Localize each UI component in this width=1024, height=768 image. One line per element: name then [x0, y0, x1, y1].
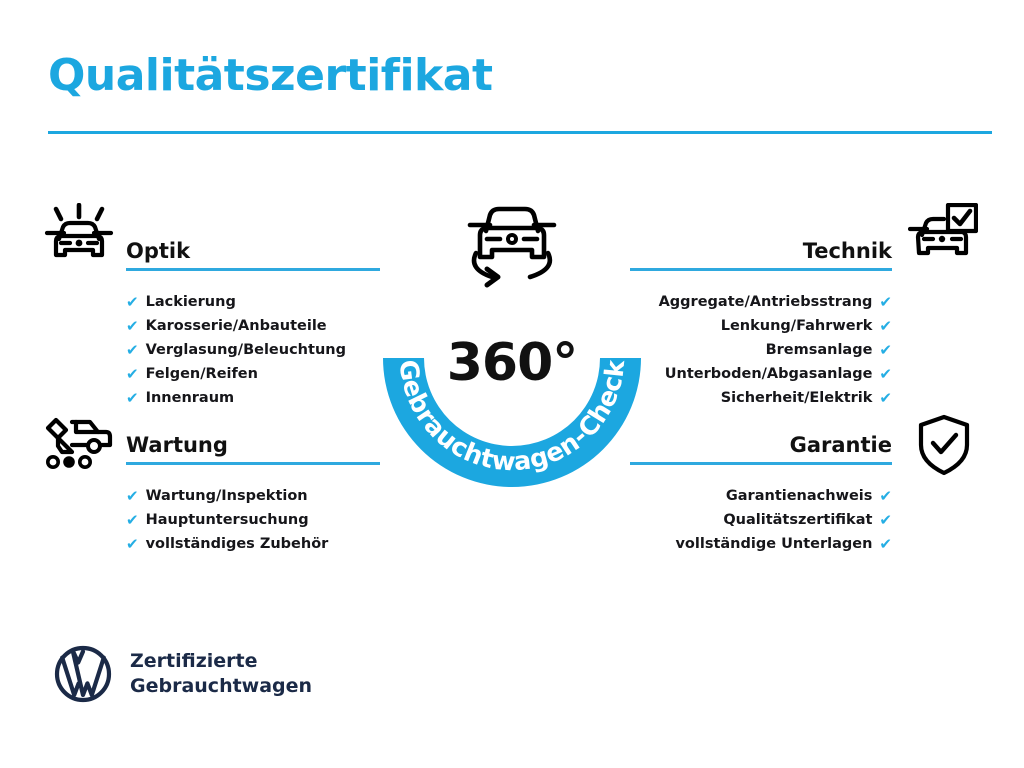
list-item-label: Qualitätszertifikat [723, 508, 872, 532]
section-divider-wartung [126, 462, 380, 465]
car-shine-icon [44, 203, 116, 269]
list-item: ✔ Karosserie/Anbauteile [126, 314, 380, 338]
list-item-label: Karosserie/Anbauteile [146, 314, 327, 338]
list-item: ✔ Wartung/Inspektion [126, 484, 380, 508]
brand-line-1: Zertifizierte [130, 649, 312, 674]
check-icon: ✔ [126, 532, 139, 556]
page-title: Qualitätszertifikat [48, 52, 493, 100]
list-item-label: Verglasung/Beleuchtung [146, 338, 346, 362]
brand-line-2: Gebrauchtwagen [130, 674, 312, 699]
section-header-wartung: Wartung [126, 432, 380, 472]
check-icon: ✔ [126, 386, 139, 410]
car-rotate-icon [456, 193, 568, 299]
list-item: Sicherheit/Elektrik ✔ [630, 386, 892, 410]
brand-lockup: Zertifizierte Gebrauchtwagen [54, 645, 312, 703]
badge-number: 360° [372, 333, 652, 393]
list-item-label: Lackierung [146, 290, 236, 314]
check-icon: ✔ [126, 314, 139, 338]
list-item: ✔ Felgen/Reifen [126, 362, 380, 386]
list-item: Bremsanlage ✔ [630, 338, 892, 362]
list-item-label: Felgen/Reifen [146, 362, 258, 386]
check-icon: ✔ [879, 508, 892, 532]
list-item-label: Hauptuntersuchung [146, 508, 309, 532]
car-checkbox-icon [908, 203, 978, 269]
section-divider-garantie [630, 462, 892, 465]
brand-text: Zertifizierte Gebrauchtwagen [130, 649, 312, 699]
list-item-label: Wartung/Inspektion [146, 484, 308, 508]
section-title-wartung: Wartung [126, 432, 380, 458]
check-icon: ✔ [879, 532, 892, 556]
list-item-label: Bremsanlage [766, 338, 873, 362]
list-item: ✔ Innenraum [126, 386, 380, 410]
list-item: vollständige Unterlagen ✔ [630, 532, 892, 556]
list-item: ✔ vollständiges Zubehör [126, 532, 380, 556]
check-icon: ✔ [879, 338, 892, 362]
section-header-technik: Technik [630, 238, 892, 278]
list-item: Garantienachweis ✔ [630, 484, 892, 508]
list-item: Unterboden/Abgasanlage ✔ [630, 362, 892, 386]
badge-360-gebrauchtwagen-check: Gebrauchtwagen-Check 360° [372, 193, 652, 488]
list-item-label: Lenkung/Fahrwerk [721, 314, 873, 338]
section-header-optik: Optik [126, 238, 380, 278]
vw-logo-icon [54, 645, 112, 703]
list-item-label: Unterboden/Abgasanlage [665, 362, 873, 386]
item-list-technik: Aggregate/Antriebsstrang ✔ Lenkung/Fahrw… [630, 290, 892, 410]
check-icon: ✔ [879, 362, 892, 386]
list-item-label: Garantienachweis [726, 484, 873, 508]
section-title-optik: Optik [126, 238, 380, 264]
item-list-wartung: ✔ Wartung/Inspektion ✔ Hauptuntersuchung… [126, 484, 380, 556]
check-icon: ✔ [126, 484, 139, 508]
list-item: ✔ Verglasung/Beleuchtung [126, 338, 380, 362]
item-list-optik: ✔ Lackierung ✔ Karosserie/Anbauteile ✔ V… [126, 290, 380, 410]
section-header-garantie: Garantie [630, 432, 892, 472]
section-title-garantie: Garantie [630, 432, 892, 458]
list-item: ✔ Lackierung [126, 290, 380, 314]
list-item: Qualitätszertifikat ✔ [630, 508, 892, 532]
section-wartung: Wartung ✔ Wartung/Inspektion ✔ Hauptunte… [126, 432, 380, 556]
check-icon: ✔ [126, 362, 139, 386]
list-item-label: Innenraum [146, 386, 235, 410]
header-divider [48, 131, 992, 134]
section-garantie: Garantie Garantienachweis ✔ Qualitätszer… [630, 432, 892, 556]
check-icon: ✔ [879, 314, 892, 338]
list-item-label: vollständiges Zubehör [146, 532, 329, 556]
check-icon: ✔ [879, 290, 892, 314]
check-icon: ✔ [126, 290, 139, 314]
section-divider-technik [630, 268, 892, 271]
list-item: ✔ Hauptuntersuchung [126, 508, 380, 532]
list-item-label: Sicherheit/Elektrik [721, 386, 873, 410]
section-title-technik: Technik [630, 238, 892, 264]
item-list-garantie: Garantienachweis ✔ Qualitätszertifikat ✔… [630, 484, 892, 556]
check-icon: ✔ [126, 508, 139, 532]
list-item-label: Aggregate/Antriebsstrang [659, 290, 873, 314]
car-service-pencil-icon [42, 414, 116, 474]
check-icon: ✔ [126, 338, 139, 362]
check-icon: ✔ [879, 386, 892, 410]
section-technik: Technik Aggregate/Antriebsstrang ✔ Lenku… [630, 238, 892, 410]
shield-check-icon [916, 414, 972, 480]
section-divider-optik [126, 268, 380, 271]
list-item: Aggregate/Antriebsstrang ✔ [630, 290, 892, 314]
list-item: Lenkung/Fahrwerk ✔ [630, 314, 892, 338]
section-optik: Optik ✔ Lackierung ✔ Karosserie/Anbautei… [126, 238, 380, 410]
check-icon: ✔ [879, 484, 892, 508]
list-item-label: vollständige Unterlagen [675, 532, 872, 556]
